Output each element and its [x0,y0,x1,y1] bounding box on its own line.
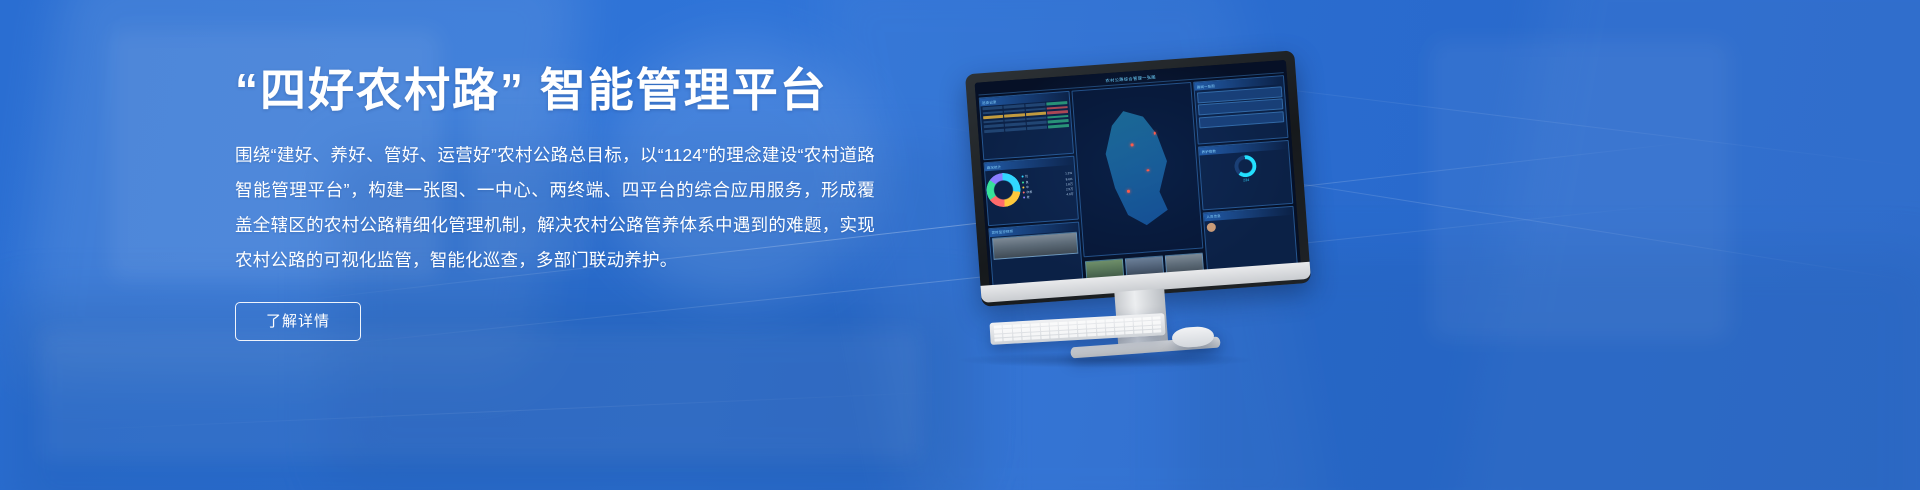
hero-banner: “四好农村路” 智能管理平台 围绕“建好、养好、管好、运营好”农村公路总目标，以… [0,0,1920,490]
legend-label: 良 [1025,180,1028,184]
legend-value: 8.6% [1066,177,1073,181]
background-silhouette [1430,40,1730,340]
panel-maintenance-gauge: 养护指数 234 [1198,140,1293,210]
map-region-shape [1100,108,1177,228]
panel-inspection-table: 巡查记录 [979,91,1074,161]
legend-label: 次差 [1026,190,1032,194]
background-silhouette [40,330,920,460]
legend-value: 4.3万 [1066,192,1073,197]
map-pin [1147,169,1150,172]
legend-value: 1.8万 [1066,182,1073,187]
panel-road-map [1071,82,1204,257]
legend-label: 差 [1026,195,1029,199]
dashboard-right-column: 路网一张图 养护指数 234 人员信息 [1194,75,1299,275]
legend-value: 2.5万 [1066,187,1073,192]
dashboard-center-column [1071,82,1206,284]
monitor-screen: 农村公路综合管理一张图 巡查记录 [975,60,1302,294]
map-pin [1131,143,1134,146]
dashboard: 农村公路综合管理一张图 巡查记录 [975,60,1302,294]
dashboard-body: 巡查记录 路况统计 [979,75,1298,291]
avatar [1207,222,1217,232]
hero-description: 围绕“建好、养好、管好、运营好”农村公路总目标，以“1124”的理念建设“农村道… [235,138,875,278]
learn-more-button[interactable]: 了解详情 [235,302,361,341]
donut-chart [985,172,1021,208]
legend-label: 中 [1026,185,1029,189]
hero-content: “四好农村路” 智能管理平台 围绕“建好、养好、管好、运营好”农村公路总目标，以… [235,62,875,341]
gauge-chart [1233,155,1257,179]
panel-summary-stats: 路网一张图 [1194,75,1289,145]
panel-road-condition-donut: 路况统计 优1.2% 良8.6% 中1.8万 次差2.5万 差4.3万 [983,156,1078,226]
camera-feed [992,232,1079,260]
legend-label: 优 [1025,175,1028,179]
page-title: “四好农村路” 智能管理平台 [235,62,875,120]
legend-value: 1.2% [1065,171,1072,175]
dashboard-left-column: 巡查记录 路况统计 [979,91,1084,291]
map-pin [1127,190,1130,193]
